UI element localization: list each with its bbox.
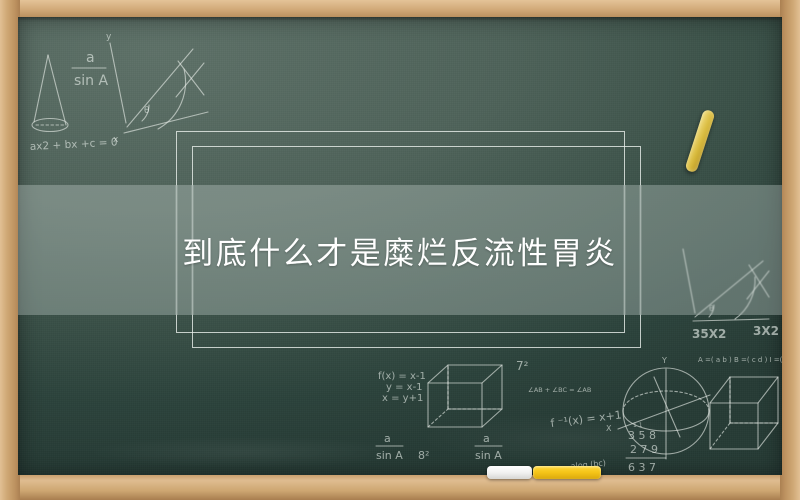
addend-1: 3 5 8 [628, 429, 656, 442]
page-title: 到底什么才是糜烂反流性胃炎 [182, 228, 618, 273]
fraction-denominator-sina-2: sin A [376, 449, 403, 462]
fraction-denominator-sina-3: sin A [475, 449, 502, 462]
wood-frame-bottom [0, 474, 800, 500]
exponent-7-squared: 7² [516, 359, 529, 373]
wood-frame-right [780, 0, 800, 500]
blackboard-surface: a sin A ax2 + bx +c = 0 y x θ [18, 17, 782, 475]
wood-frame-left [0, 0, 20, 500]
function-line-2: y = x-1 [386, 382, 423, 393]
exponent-8-squared: 8² [418, 449, 429, 462]
cube-center [428, 365, 502, 427]
addend-2: 2 7 9 [630, 443, 658, 456]
screenshot-root: a sin A ax2 + bx +c = 0 y x θ [0, 0, 800, 500]
fraction-numerator-a-3: a [483, 432, 490, 445]
title-container: 到底什么才是糜烂反流性胃炎 [18, 185, 782, 315]
angle-sum-expression: ∠AB + ∠BC = ∠AB [528, 386, 591, 394]
fraction-numerator-a-2: a [384, 432, 391, 445]
inverse-function: f ⁻¹(x) = x+1 [550, 408, 623, 430]
addition-sum: 6 3 7 [628, 461, 656, 474]
chalk-white-ledge [487, 466, 532, 479]
column-addition: 1 1 3 5 8 2 7 9 6 3 7 [626, 422, 666, 474]
chalk-yellow-ledge [533, 466, 601, 479]
svg-text:1 1: 1 1 [633, 422, 643, 429]
function-line-1: f(x) = x-1 [378, 371, 426, 382]
function-line-3: x = y+1 [382, 393, 423, 404]
wood-frame-top [0, 0, 800, 18]
